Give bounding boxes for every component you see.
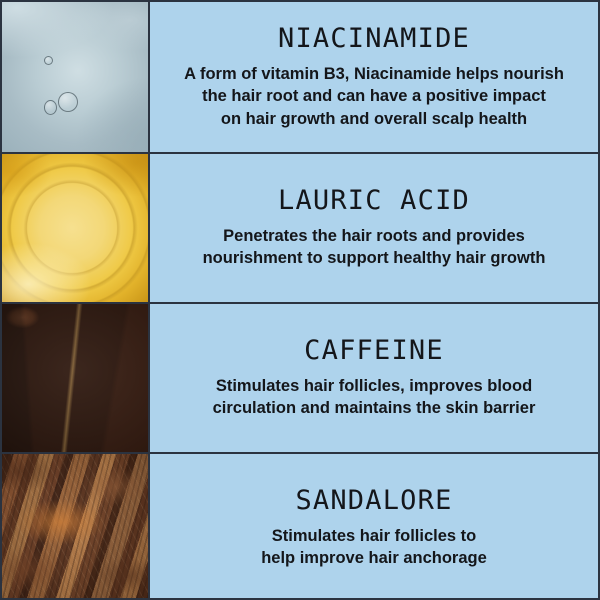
ingredient-description-lauric-acid: Penetrates the hair roots and provides n…	[203, 225, 546, 270]
beans-shade-layer	[2, 304, 148, 452]
description-line: nourishment to support healthy hair grow…	[203, 247, 546, 269]
ingredient-copy: LAURIC ACID Penetrates the hair roots an…	[150, 154, 598, 302]
wood-shade-layer	[2, 454, 148, 600]
ingredient-row-niacinamide: NIACINAMIDE A form of vitamin B3, Niacin…	[2, 2, 598, 152]
description-line: circulation and maintains the skin barri…	[213, 397, 536, 419]
ingredient-row-lauric-acid: LAURIC ACID Penetrates the hair roots an…	[2, 152, 598, 302]
ingredient-copy: CAFFEINE Stimulates hair follicles, impr…	[150, 304, 598, 452]
bubble-icon	[44, 100, 57, 115]
serum-sheen-layer	[2, 2, 148, 152]
niacinamide-serum-swatch-image	[2, 2, 150, 152]
ingredient-row-caffeine: CAFFEINE Stimulates hair follicles, impr…	[2, 302, 598, 452]
ingredient-copy: NIACINAMIDE A form of vitamin B3, Niacin…	[150, 2, 598, 152]
ingredient-name-niacinamide: NIACINAMIDE	[278, 24, 470, 54]
description-line: A form of vitamin B3, Niacinamide helps …	[184, 63, 564, 85]
ingredient-copy: SANDALORE Stimulates hair follicles to h…	[150, 454, 598, 600]
description-line: help improve hair anchorage	[261, 547, 487, 569]
ingredient-name-sandalore: SANDALORE	[295, 486, 452, 516]
description-line: on hair growth and overall scalp health	[184, 108, 564, 130]
oil-gloss-layer	[2, 154, 148, 302]
sandalwood-chips-swatch-image	[2, 454, 150, 600]
ingredient-description-niacinamide: A form of vitamin B3, Niacinamide helps …	[184, 63, 564, 130]
ingredient-description-sandalore: Stimulates hair follicles to help improv…	[261, 525, 487, 570]
ingredient-row-sandalore: SANDALORE Stimulates hair follicles to h…	[2, 452, 598, 600]
description-line: Penetrates the hair roots and provides	[203, 225, 546, 247]
bubble-icon	[44, 56, 53, 65]
ingredient-name-caffeine: CAFFEINE	[304, 336, 444, 366]
ingredient-description-caffeine: Stimulates hair follicles, improves bloo…	[213, 375, 536, 420]
description-line: Stimulates hair follicles to	[261, 525, 487, 547]
coffee-beans-swatch-image	[2, 304, 150, 452]
description-line: Stimulates hair follicles, improves bloo…	[213, 375, 536, 397]
description-line: the hair root and can have a positive im…	[184, 85, 564, 107]
ingredient-infographic: NIACINAMIDE A form of vitamin B3, Niacin…	[0, 0, 600, 600]
ingredient-name-lauric-acid: LAURIC ACID	[278, 186, 470, 216]
golden-oil-swatch-image	[2, 154, 150, 302]
bubble-icon	[58, 92, 78, 112]
